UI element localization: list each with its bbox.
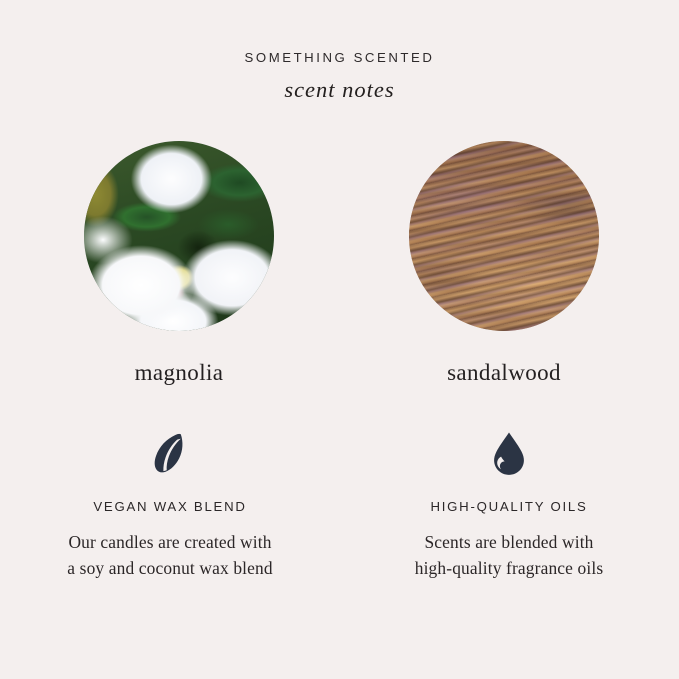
page-title: scent notes bbox=[0, 77, 679, 103]
feature-title-vegan-wax-blend: VEGAN WAX BLEND bbox=[0, 498, 340, 516]
sandalwood-image-circle bbox=[409, 141, 599, 331]
scent-label-sandalwood: sandalwood bbox=[409, 359, 599, 387]
feature-body-vegan-wax-blend: Our candles are created with a soy and c… bbox=[0, 529, 340, 581]
scent-label-magnolia: magnolia bbox=[84, 359, 274, 387]
eyebrow-label: SOMETHING SCENTED bbox=[0, 48, 679, 68]
feature-body-high-quality-oils: Scents are blended with high-quality fra… bbox=[339, 529, 679, 581]
header: SOMETHING SCENTED scent notes bbox=[0, 48, 679, 103]
feature-body-line: high-quality fragrance oils bbox=[339, 555, 679, 581]
feature-item-vegan-wax-blend: VEGAN WAX BLEND Our candles are created … bbox=[0, 430, 340, 581]
feature-item-high-quality-oils: HIGH-QUALITY OILS Scents are blended wit… bbox=[339, 430, 679, 581]
scent-notes-panel: SOMETHING SCENTED scent notes magnolia s… bbox=[0, 0, 679, 679]
feature-list: VEGAN WAX BLEND Our candles are created … bbox=[0, 430, 679, 610]
feature-body-line: Scents are blended with bbox=[339, 529, 679, 555]
magnolia-image-circle bbox=[84, 141, 274, 331]
scent-list: magnolia sandalwood bbox=[0, 141, 679, 391]
feature-body-line: Our candles are created with bbox=[0, 529, 340, 555]
magnolia-flower-photo bbox=[84, 141, 274, 331]
feature-body-line: a soy and coconut wax blend bbox=[0, 555, 340, 581]
sandalwood-grain-photo bbox=[409, 141, 599, 331]
feature-title-high-quality-oils: HIGH-QUALITY OILS bbox=[339, 498, 679, 516]
leaf-icon bbox=[150, 430, 190, 476]
droplet-icon bbox=[489, 430, 529, 476]
scent-item-magnolia: magnolia bbox=[84, 141, 274, 387]
scent-item-sandalwood: sandalwood bbox=[409, 141, 599, 387]
